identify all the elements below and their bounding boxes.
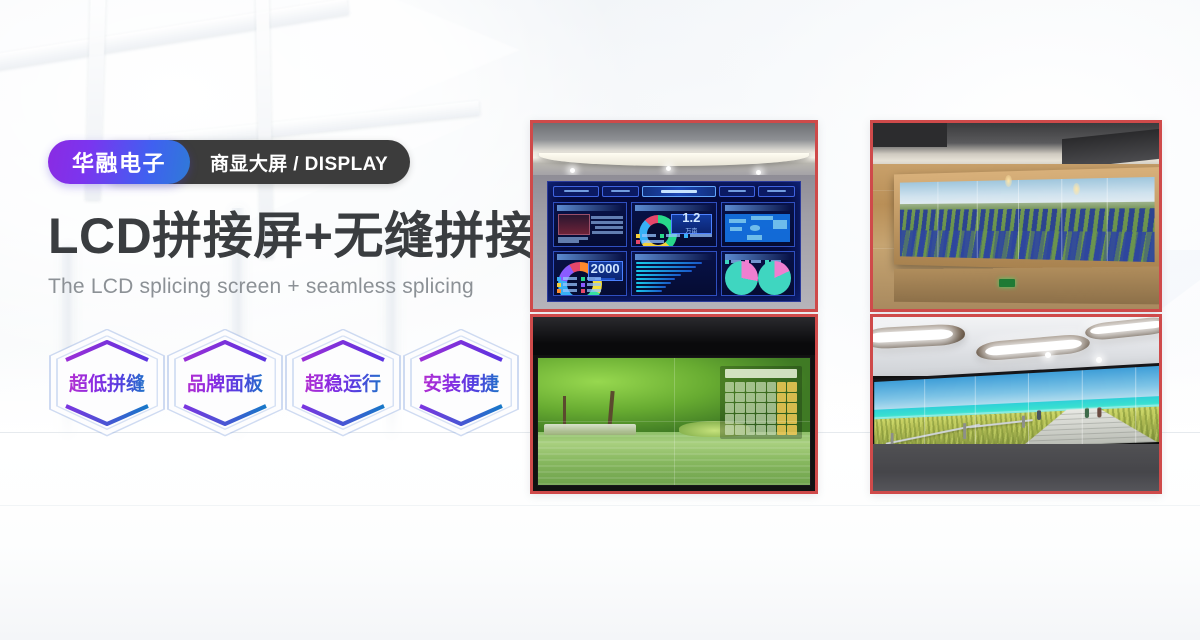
kpi-value: 2000 [591, 262, 620, 275]
dashboard-card-pie-stats [721, 251, 795, 296]
ceiling [533, 123, 815, 179]
chevron-up-icon [182, 339, 268, 363]
promo-banner: 华融电子 商显大屏 / DISPLAY LCD拼接屏+无缝拼接 The LCD … [0, 0, 1200, 640]
screen-figure [1037, 410, 1041, 420]
panel-seam [1017, 180, 1018, 259]
dashboard-card-kpi-area: 1.2 万亩 [631, 202, 716, 247]
pie-chart [725, 261, 758, 295]
video-wall-screen [899, 177, 1154, 263]
chevron-down-icon [418, 403, 504, 427]
pie-chart [758, 261, 791, 295]
product-photo-lake-scenery-video-wall[interactable] [530, 314, 818, 494]
chart-legend [636, 234, 713, 244]
hero-text-block: 华融电子 商显大屏 / DISPLAY LCD拼接屏+无缝拼接 The LCD … [48, 140, 548, 439]
page-title: LCD拼接屏+无缝拼接 [48, 210, 548, 263]
downlight [1045, 352, 1051, 358]
downlight [666, 166, 671, 171]
feature-badge-2: 品牌面板 [166, 327, 284, 439]
feature-badge-label: 安装便捷 [423, 369, 499, 396]
calendar-widget [720, 366, 801, 440]
brand-name-label: 华融电子 [72, 146, 166, 178]
feature-badge-label: 超低拼缝 [69, 369, 145, 396]
feature-badge-label: 品牌面板 [187, 369, 263, 396]
screen-rail-post [964, 423, 967, 439]
screen-rail-post [1022, 416, 1025, 428]
screen-figure [1085, 408, 1089, 418]
feature-badge-3: 超稳运行 [284, 327, 402, 439]
dashboard-screen: 1.2 万亩 [547, 181, 801, 302]
ceiling-panel [873, 123, 947, 147]
wall-light [1073, 183, 1080, 195]
chevron-up-icon [300, 339, 386, 363]
wall-base-panel [894, 267, 1159, 305]
chevron-up-icon [64, 339, 150, 363]
panel-seam [1106, 178, 1107, 261]
feature-badge-1: 超低拼缝 [48, 327, 166, 439]
pie-chart-group [725, 267, 791, 290]
chevron-down-icon [182, 403, 268, 427]
product-photo-beach-boardwalk-video-wall[interactable] [870, 314, 1162, 494]
chevron-down-icon [300, 403, 386, 427]
dashboard-card-intro [553, 202, 627, 247]
dashboard-card-kpi-count: 2000 [553, 251, 627, 296]
calendar-grid [725, 382, 797, 435]
kpi-value: 1.2 [682, 211, 700, 224]
wall-light [1005, 175, 1012, 187]
panel-seam [976, 181, 977, 258]
brand-name-pill: 华融电子 [48, 140, 190, 184]
video-wall-screen [874, 366, 1159, 453]
dashboard-card-bar-ranking [631, 251, 716, 296]
video-wall-screen [537, 357, 811, 486]
feature-badge-label: 超稳运行 [305, 369, 381, 396]
thumbnail-image [558, 214, 590, 235]
dashboard-panel-grid: 1.2 万亩 [553, 202, 795, 296]
calendar-title [725, 369, 797, 378]
brand-badge-row: 华融电子 商显大屏 / DISPLAY [48, 140, 548, 184]
photo-content [533, 317, 815, 491]
screen-bezel [533, 317, 815, 355]
kpi-tile: 1.2 万亩 [671, 214, 711, 234]
exit-sign-icon [999, 279, 1015, 287]
downlight [756, 170, 761, 175]
floor [873, 444, 1159, 491]
video-wall-frame [894, 167, 1159, 272]
feature-badge-4: 安装便捷 [402, 327, 520, 439]
chart-legend [557, 277, 623, 293]
page-subtitle: The LCD splicing screen + seamless splic… [48, 275, 548, 299]
product-photo-solar-farm-video-wall[interactable] [870, 120, 1162, 312]
screen-bank-railing [544, 424, 636, 435]
product-photo-dashboard-video-wall[interactable]: 1.2 万亩 [530, 120, 818, 312]
chevron-up-icon [418, 339, 504, 363]
panel-seam [538, 421, 810, 422]
photo-content: 1.2 万亩 [533, 123, 815, 309]
dashboard-navbar [553, 185, 795, 198]
dashboard-card-flow-diagram [721, 202, 795, 247]
downlight [570, 168, 575, 173]
brand-category-label: 商显大屏 / DISPLAY [210, 149, 388, 176]
panel-seam [1061, 179, 1062, 260]
chevron-down-icon [64, 403, 150, 427]
photo-content [873, 317, 1159, 491]
bar-chart [636, 262, 711, 292]
flow-diagram [725, 214, 790, 242]
panel-seam [937, 182, 938, 258]
photo-content [873, 123, 1159, 309]
feature-badge-list: 超低拼缝 品牌面板 [48, 327, 548, 439]
